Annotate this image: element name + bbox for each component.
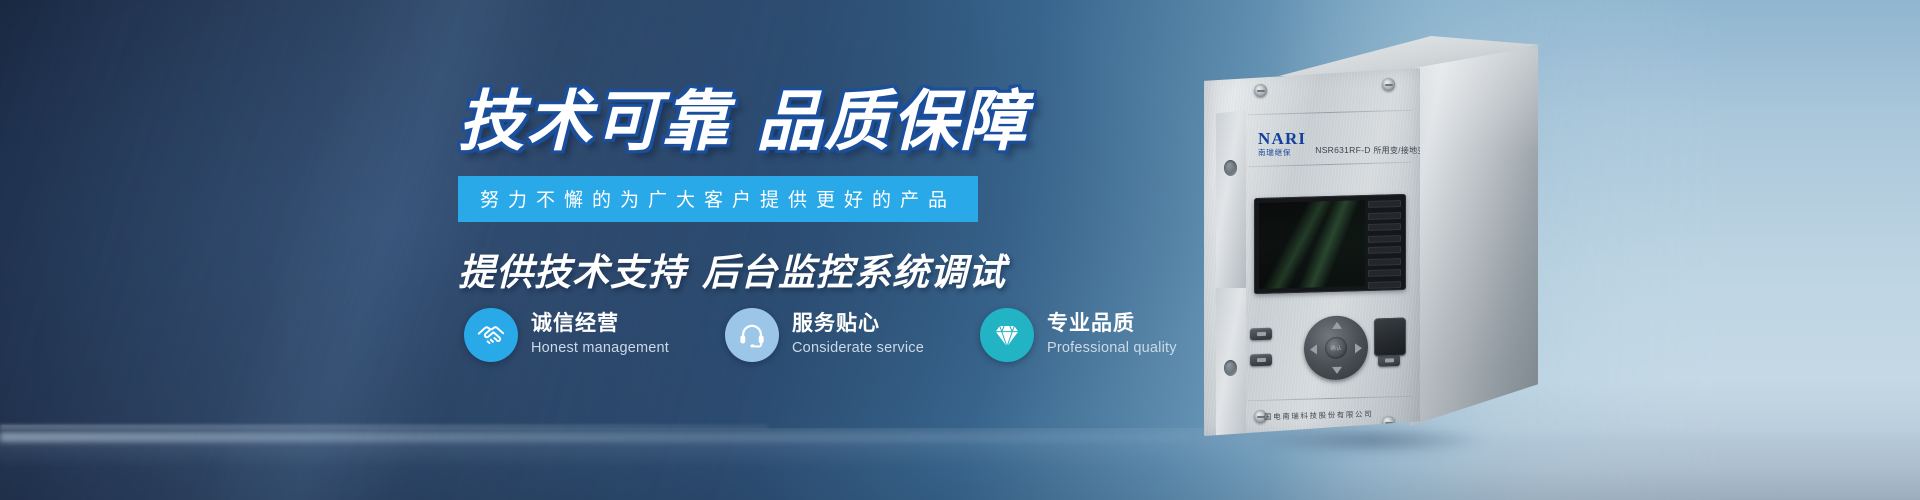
promo-banner: 技术可靠品质保障 努力不懈的为广大客户提供更好的产品 提供技术支持后台监控系统调… (0, 0, 1920, 500)
brand-name-cn: 南瑞继保 (1258, 149, 1306, 157)
floor-highlight-band (0, 432, 1190, 442)
feature-subtitle: Honest management (531, 339, 669, 358)
arrow-down-icon[interactable] (1332, 367, 1342, 374)
led-indicator (1368, 258, 1401, 266)
mounting-hole-top (1224, 160, 1237, 176)
model-code: NSR631RF-D (1315, 145, 1370, 155)
function-key-2[interactable] (1250, 354, 1272, 367)
arrow-right-icon[interactable] (1355, 343, 1362, 353)
feature-subtitle: Considerate service (792, 339, 924, 358)
nari-logo: NARI 南瑞继保 (1258, 130, 1306, 157)
feature-caption: 诚信经营 Honest management (531, 312, 669, 358)
feature-subtitle: Professional quality (1047, 339, 1177, 358)
led-indicator (1368, 246, 1401, 254)
handshake-icon (464, 308, 518, 362)
product-image-protection-relay: NARI 南瑞继保 NSR631RF-D 所用变/接地变保护测控装置 (1192, 28, 1552, 448)
function-key-1[interactable] (1250, 328, 1272, 341)
feature-title: 诚信经营 (531, 312, 669, 336)
arrow-up-icon[interactable] (1332, 322, 1342, 329)
communication-port (1374, 318, 1406, 357)
screw-top-left (1254, 84, 1267, 97)
led-indicator (1368, 269, 1401, 277)
confirm-key[interactable]: 确认 (1325, 337, 1347, 360)
feature-caption: 服务贴心 Considerate service (792, 312, 924, 358)
led-indicator-strip (1368, 200, 1401, 288)
feature-list: 诚信经营 Honest management 服务贴心 Considerate … (464, 308, 1177, 362)
key-glyph (1385, 358, 1394, 362)
subtitle-bar: 努力不懈的为广大客户提供更好的产品 (458, 176, 978, 222)
led-indicator (1368, 200, 1401, 208)
copy-block: 技术可靠品质保障 努力不懈的为广大客户提供更好的产品 提供技术支持后台监控系统调… (458, 88, 1118, 296)
led-indicator (1368, 223, 1401, 231)
diamond-icon (980, 308, 1034, 362)
brand-name: NARI (1258, 130, 1306, 147)
headset-icon (725, 308, 779, 362)
feature-item-honest-management[interactable]: 诚信经营 Honest management (464, 308, 669, 362)
feature-item-considerate-service[interactable]: 服务贴心 Considerate service (725, 308, 924, 362)
device-front-panel: NARI 南瑞继保 NSR631RF-D 所用变/接地变保护测控装置 (1204, 68, 1420, 436)
device-side-sheen (1410, 46, 1538, 426)
screw-top-right (1382, 78, 1395, 91)
led-indicator (1368, 235, 1401, 243)
lcd-display (1254, 194, 1406, 294)
navigation-dpad[interactable]: 确认 (1304, 315, 1368, 381)
led-indicator (1368, 212, 1401, 220)
tagline-left: 提供技术支持 (458, 252, 686, 293)
headline: 技术可靠品质保障 (458, 88, 1118, 154)
key-glyph (1257, 332, 1266, 336)
feature-item-professional-quality[interactable]: 专业品质 Professional quality (980, 308, 1177, 362)
mounting-hole-bottom (1224, 360, 1237, 376)
mounting-ear-top (1216, 110, 1246, 288)
floor-edge-line (0, 425, 768, 428)
feature-title: 服务贴心 (792, 312, 924, 336)
feature-title: 专业品质 (1047, 312, 1177, 336)
feature-caption: 专业品质 Professional quality (1047, 312, 1177, 358)
subtitle-text: 努力不懈的为广大客户提供更好的产品 (480, 185, 956, 212)
arrow-left-icon[interactable] (1310, 344, 1317, 354)
lcd-screen (1259, 200, 1365, 289)
headline-left: 技术可靠 (458, 84, 730, 158)
headline-right: 品质保障 (756, 84, 1028, 158)
led-indicator (1368, 281, 1401, 289)
tagline: 提供技术支持后台监控系统调试 (458, 242, 1118, 296)
key-glyph (1257, 358, 1266, 362)
tagline-right: 后台监控系统调试 (702, 252, 1006, 293)
